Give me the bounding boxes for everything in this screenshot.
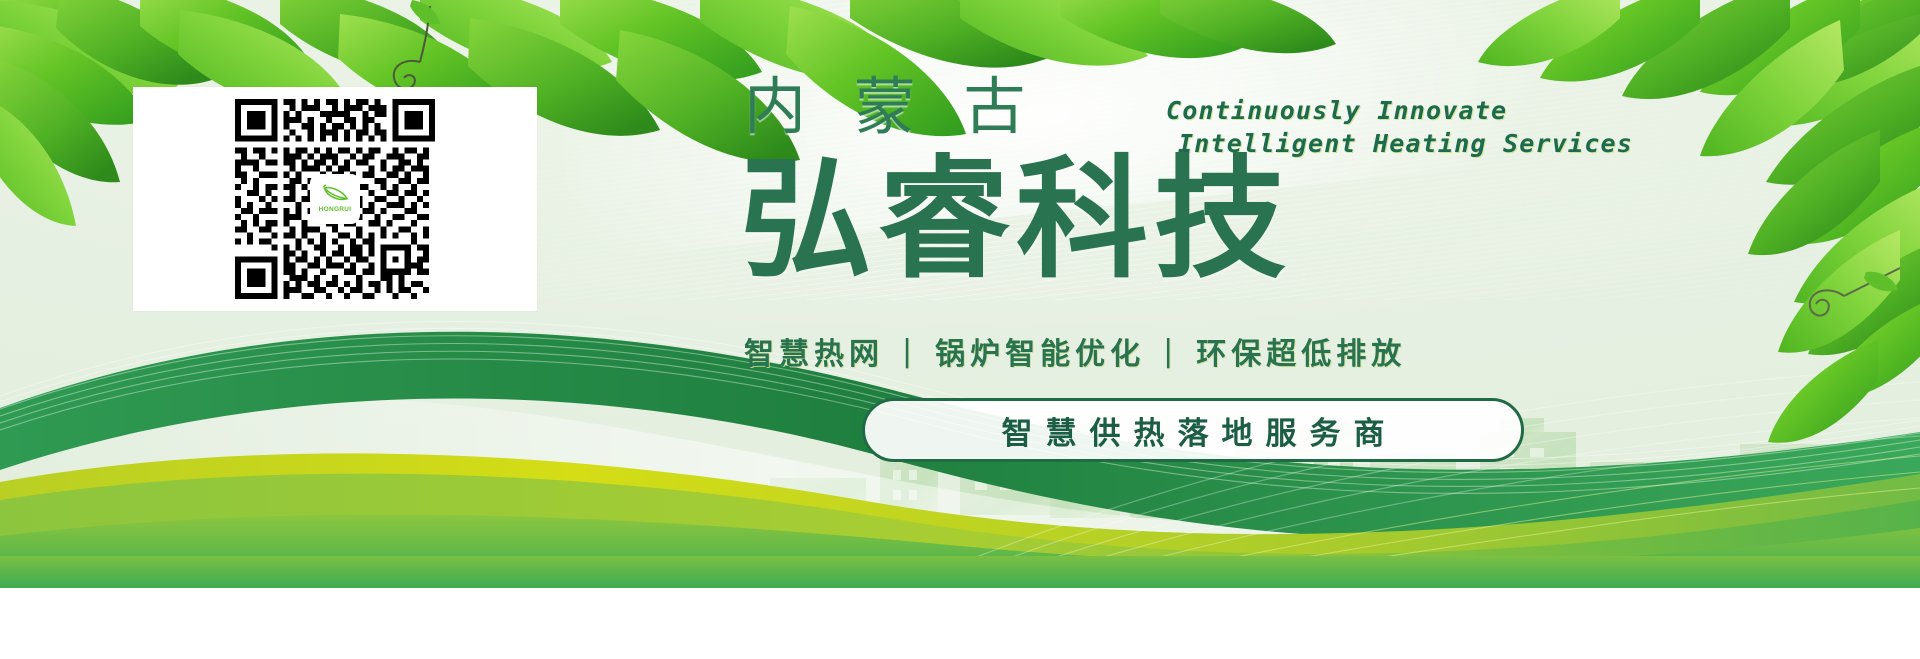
slogan-badge-text: 智慧供热落地服务商 [989,408,1398,453]
qr-code-card[interactable]: HONGRUI [133,87,537,311]
qr-center-logo: HONGRUI [312,176,358,222]
banner-page: HONGRUI 内 蒙 古 Continuously Innovate Inte… [0,0,1920,659]
service-item-1: 智慧热网 [744,329,884,373]
service-item-2: 锅炉智能优化 [935,329,1145,373]
qr-logo-text: HONGRUI [319,207,352,214]
service-separator-2: | [1163,334,1178,369]
leaves-top-right [1478,0,1920,443]
hero-banner: HONGRUI 内 蒙 古 Continuously Innovate Inte… [0,0,1920,588]
slogan-badge: 智慧供热落地服务商 [862,398,1524,462]
company-title: 弘睿科技 [740,152,1292,289]
english-line-1: Continuously Innovate [1166,94,1806,127]
service-separator-1: | [902,334,917,369]
service-item-3: 环保超低排放 [1196,329,1406,373]
service-list: 智慧热网 | 锅炉智能优化 | 环保超低排放 [744,329,1406,373]
hongrui-leaf-bird-icon [320,184,350,206]
